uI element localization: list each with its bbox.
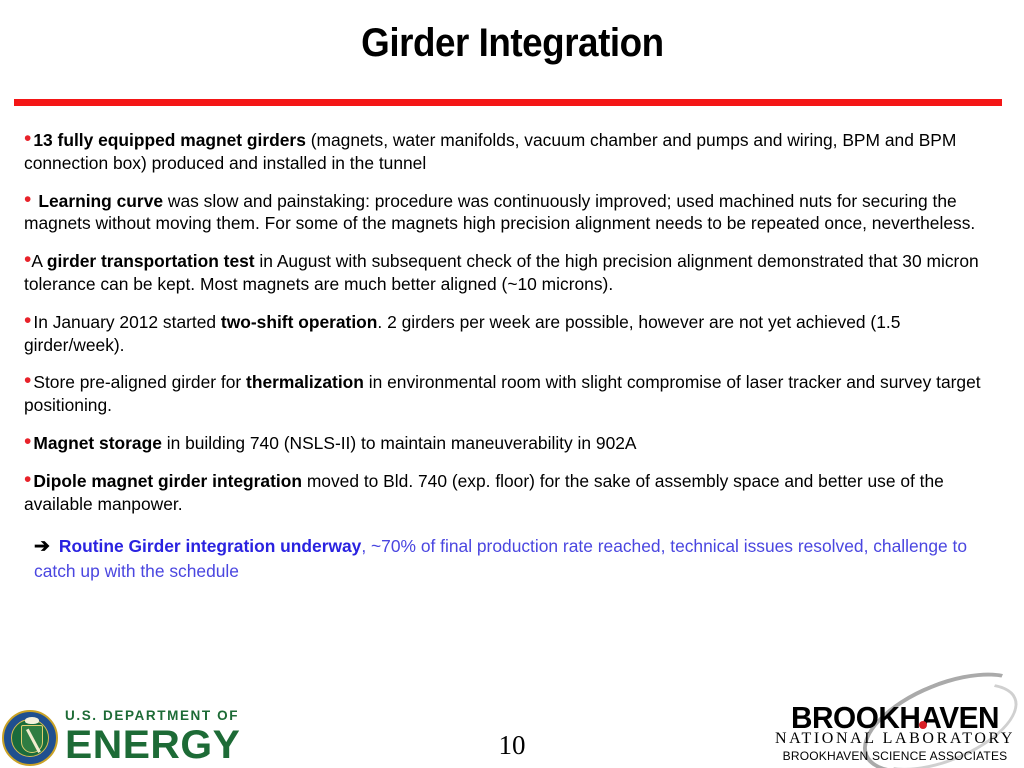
- arrow-bullet-icon: ➔: [34, 536, 59, 557]
- doe-shield-icon: [21, 725, 43, 753]
- bullet-item: •In January 2012 started two-shift opera…: [24, 310, 1002, 357]
- bullet-dot-icon: •: [24, 127, 33, 150]
- bullet-dot-icon: •: [24, 369, 33, 392]
- bullet-dot-icon: •: [24, 309, 33, 332]
- page-title: Girder Integration: [361, 22, 664, 64]
- bullet-text-emphasis: thermalization: [246, 372, 364, 392]
- brookhaven-red-dot-icon: [919, 721, 927, 729]
- bullet-text: In January 2012 started: [33, 312, 221, 332]
- bullet-text-emphasis: Learning curve: [38, 191, 163, 211]
- bullet-text-emphasis: Routine Girder integration underway: [59, 536, 361, 556]
- bullet-text-emphasis: Magnet storage: [33, 433, 162, 453]
- bullet-dot-icon: •: [24, 188, 38, 211]
- doe-department-label: U.S. DEPARTMENT OF: [65, 709, 265, 723]
- slide-root: Girder Integration •13 fully equipped ma…: [0, 0, 1024, 768]
- doe-shield-stripe: [26, 729, 41, 753]
- bullet-item: •Learning curve was slow and painstaking…: [24, 189, 1002, 236]
- doe-logo: U.S. DEPARTMENT OF ENERGY: [2, 708, 264, 768]
- bullet-dot-icon: •: [24, 468, 33, 491]
- bullet-item: ➔Routine Girder integration underway, ~7…: [24, 535, 1002, 583]
- doe-seal-icon: [2, 710, 58, 766]
- bullet-item: •Magnet storage in building 740 (NSLS-II…: [24, 431, 1002, 455]
- bullet-text-emphasis: 13 fully equipped magnet girders: [33, 130, 306, 150]
- bullet-text: Store pre-aligned girder for: [33, 372, 246, 392]
- doe-wordmark: U.S. DEPARTMENT OF ENERGY: [65, 709, 265, 765]
- bullet-text: in building 740 (NSLS-II) to maintain ma…: [162, 433, 637, 453]
- brookhaven-name: BROOKHAVEN: [775, 702, 1015, 733]
- bullet-text-emphasis: girder transportation test: [47, 251, 255, 271]
- bullet-item: •Store pre-aligned girder for thermaliza…: [24, 370, 1002, 417]
- brookhaven-subtitle: NATIONAL LABORATORY: [770, 731, 1020, 747]
- doe-eagle-icon: [25, 717, 39, 724]
- title-area: Girder Integration: [0, 22, 1024, 64]
- bullet-text: A: [31, 251, 46, 271]
- title-divider-rule: [14, 99, 1002, 106]
- bullet-text-emphasis: two-shift operation: [221, 312, 378, 332]
- bullet-text: was slow and painstaking: procedure was …: [24, 191, 975, 234]
- brookhaven-logo: BROOKHAVEN NATIONAL LABORATORY BROOKHAVE…: [770, 688, 1020, 760]
- bullet-item: •A girder transportation test in August …: [24, 249, 1002, 296]
- brookhaven-science-associates: BROOKHAVEN SCIENCE ASSOCIATES: [770, 750, 1020, 762]
- bullet-text-emphasis: Dipole magnet girder integration: [33, 471, 302, 491]
- bullet-item: •Dipole magnet girder integration moved …: [24, 469, 1002, 516]
- bullet-dot-icon: •: [24, 430, 33, 453]
- bullet-item: •13 fully equipped magnet girders (magne…: [24, 128, 1002, 175]
- bullet-list: •13 fully equipped magnet girders (magne…: [24, 128, 1002, 583]
- doe-energy-label: ENERGY: [65, 725, 269, 765]
